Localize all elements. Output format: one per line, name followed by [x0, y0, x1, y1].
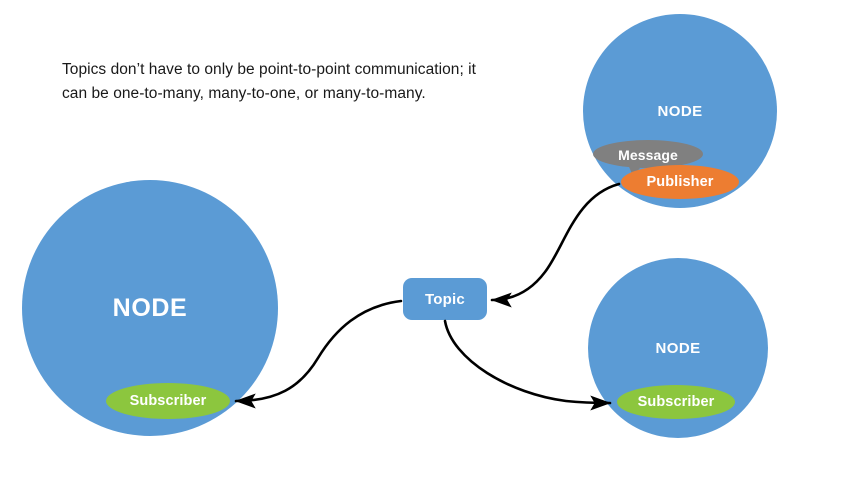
caption-text: Topics don’t have to only be point-to-po…	[62, 58, 482, 105]
topic-box[interactable]	[403, 278, 487, 320]
message-ellipse[interactable]	[593, 140, 703, 168]
subscriber-ellipse-left[interactable]	[106, 383, 230, 419]
slide-canvas: Topics don’t have to only be point-to-po…	[0, 0, 854, 480]
arrow-topic-to-subscriber-bottom-right	[445, 321, 610, 403]
subscriber-ellipse-bottom-right[interactable]	[617, 385, 735, 419]
publisher-ellipse[interactable]	[621, 165, 739, 199]
arrow-publisher-to-topic	[492, 184, 619, 300]
